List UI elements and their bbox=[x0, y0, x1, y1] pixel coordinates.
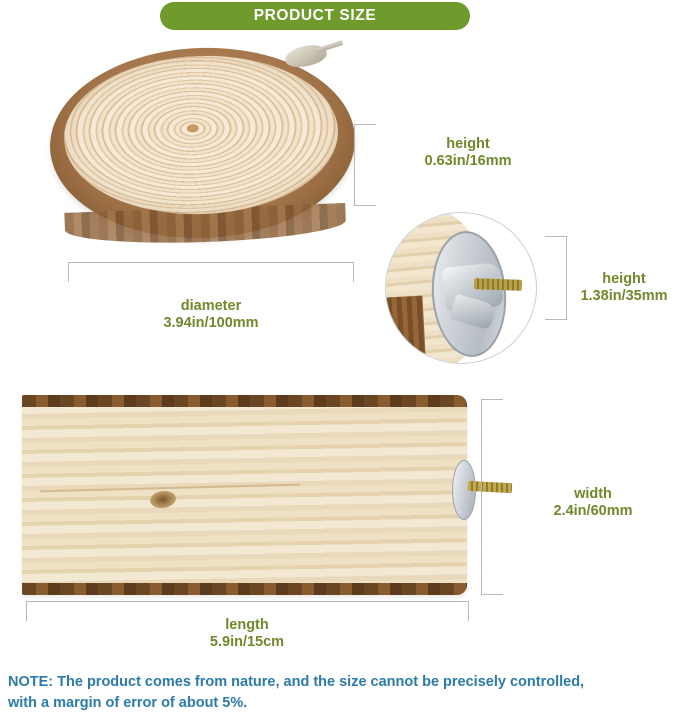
slice-diameter-label: diameter 3.94in/100mm bbox=[111, 298, 311, 332]
slice-height-label-value: 0.63in/16mm bbox=[388, 153, 548, 170]
screw-height-label-value: 1.38in/35mm bbox=[565, 288, 679, 305]
closeup-wood-bark bbox=[385, 296, 425, 357]
disclaimer-note: NOTE: The product comes from nature, and… bbox=[8, 672, 668, 714]
banner-label: PRODUCT SIZE bbox=[254, 7, 377, 25]
plank-width-label-value: 2.4in/60mm bbox=[518, 503, 668, 520]
slice-height-label: height 0.63in/16mm bbox=[388, 136, 548, 170]
slice-height-bracket bbox=[354, 124, 376, 206]
slice-height-label-name: height bbox=[388, 136, 548, 153]
plank-width-bracket bbox=[481, 399, 503, 595]
slice-diameter-label-value: 3.94in/100mm bbox=[111, 315, 311, 332]
screw-closeup-inset bbox=[385, 212, 537, 364]
screw-height-bracket bbox=[545, 236, 567, 320]
plank-length-label-name: length bbox=[147, 617, 347, 634]
plank-length-label-value: 5.9in/15cm bbox=[147, 634, 347, 651]
wood-plank-image bbox=[22, 395, 467, 595]
disclaimer-note-line2: with a margin of error of about 5%. bbox=[8, 693, 668, 714]
plank-width-label-name: width bbox=[518, 486, 668, 503]
plank-width-label: width 2.4in/60mm bbox=[518, 486, 668, 520]
slice-diameter-bracket bbox=[68, 262, 354, 282]
plank-length-label: length 5.9in/15cm bbox=[147, 617, 347, 651]
wood-slice-screw bbox=[265, 42, 335, 72]
screw-shaft-shape bbox=[317, 40, 343, 53]
screw-height-label: height 1.38in/35mm bbox=[565, 271, 679, 305]
plank-bark-top-edge bbox=[22, 395, 467, 407]
product-size-banner: PRODUCT SIZE bbox=[160, 2, 470, 30]
closeup-screw-thread bbox=[474, 278, 522, 291]
slice-diameter-label-name: diameter bbox=[111, 298, 311, 315]
plank-knot bbox=[149, 489, 177, 509]
disclaimer-note-line1: NOTE: The product comes from nature, and… bbox=[8, 672, 668, 693]
plank-bark-bottom-edge bbox=[22, 583, 467, 595]
screw-height-label-name: height bbox=[565, 271, 679, 288]
wood-slice-image bbox=[50, 48, 355, 248]
wood-slice-pith bbox=[187, 124, 199, 132]
